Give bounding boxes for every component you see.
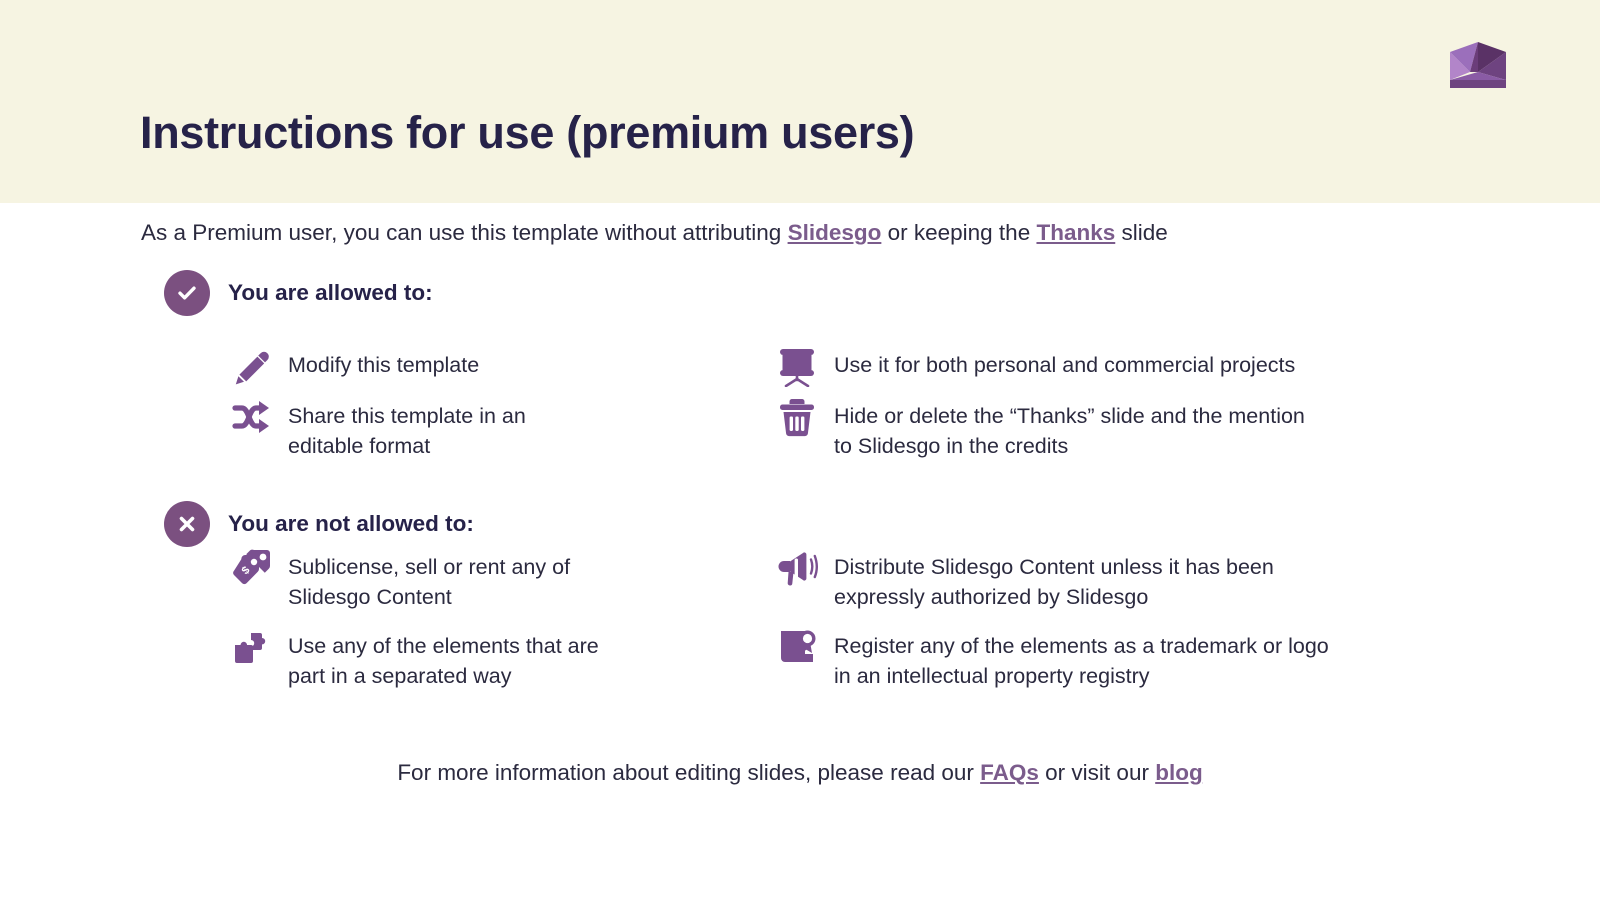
slidesgo-link[interactable]: Slidesgo: [788, 220, 882, 245]
header-band: [0, 0, 1600, 203]
list-item: Share this template in aneditable format: [228, 394, 526, 461]
list-item: Distribute Slidesgo Content unless it ha…: [774, 545, 1274, 612]
footer-line: For more information about editing slide…: [0, 760, 1600, 786]
section-label-allowed: You are allowed to:: [228, 280, 433, 306]
thanks-link[interactable]: Thanks: [1036, 220, 1115, 245]
presentation-screen-icon: [774, 343, 820, 389]
slide-canvas: Instructions for use (premium users) As …: [0, 0, 1600, 900]
list-item-text: Hide or delete the “Thanks” slide and th…: [834, 394, 1305, 461]
megaphone-icon: [774, 545, 820, 591]
trash-icon: [774, 394, 820, 440]
price-tag-icon: $: [228, 545, 274, 591]
puzzle-icon: [228, 624, 274, 670]
blog-link[interactable]: blog: [1155, 760, 1202, 785]
section-header-not-allowed: You are not allowed to:: [164, 501, 474, 547]
list-item-text: Modify this template: [288, 343, 479, 380]
intro-text-2: or keeping the: [881, 220, 1036, 245]
list-item-text: Register any of the elements as a tradem…: [834, 624, 1329, 691]
footer-text-2: or visit our: [1039, 760, 1155, 785]
intro-text-1: As a Premium user, you can use this temp…: [141, 220, 788, 245]
list-item: Use any of the elements that arepart in …: [228, 624, 599, 691]
list-item-text: Distribute Slidesgo Content unless it ha…: [834, 545, 1274, 612]
list-item: Hide or delete the “Thanks” slide and th…: [774, 394, 1305, 461]
trademark-book-icon: [774, 624, 820, 670]
section-header-allowed: You are allowed to:: [164, 270, 433, 316]
page-title: Instructions for use (premium users): [140, 107, 914, 159]
list-item: Register any of the elements as a tradem…: [774, 624, 1329, 691]
x-circle-icon: [164, 501, 210, 547]
intro-text-3: slide: [1115, 220, 1168, 245]
list-item-text: Use it for both personal and commercial …: [834, 343, 1295, 380]
check-circle-icon: [164, 270, 210, 316]
list-item: Use it for both personal and commercial …: [774, 343, 1295, 389]
crown-icon: [1448, 38, 1508, 90]
pencil-icon: [228, 343, 274, 389]
list-item-text: Use any of the elements that arepart in …: [288, 624, 599, 691]
faqs-link[interactable]: FAQs: [980, 760, 1039, 785]
intro-line: As a Premium user, you can use this temp…: [141, 220, 1168, 246]
section-label-not-allowed: You are not allowed to:: [228, 511, 474, 537]
list-item: Modify this template: [228, 343, 479, 389]
footer-text-1: For more information about editing slide…: [397, 760, 980, 785]
list-item: $ Sublicense, sell or rent any ofSlidesg…: [228, 545, 570, 612]
list-item-text: Sublicense, sell or rent any ofSlidesgo …: [288, 545, 570, 612]
list-item-text: Share this template in aneditable format: [288, 394, 526, 461]
share-shuffle-icon: [228, 394, 274, 440]
